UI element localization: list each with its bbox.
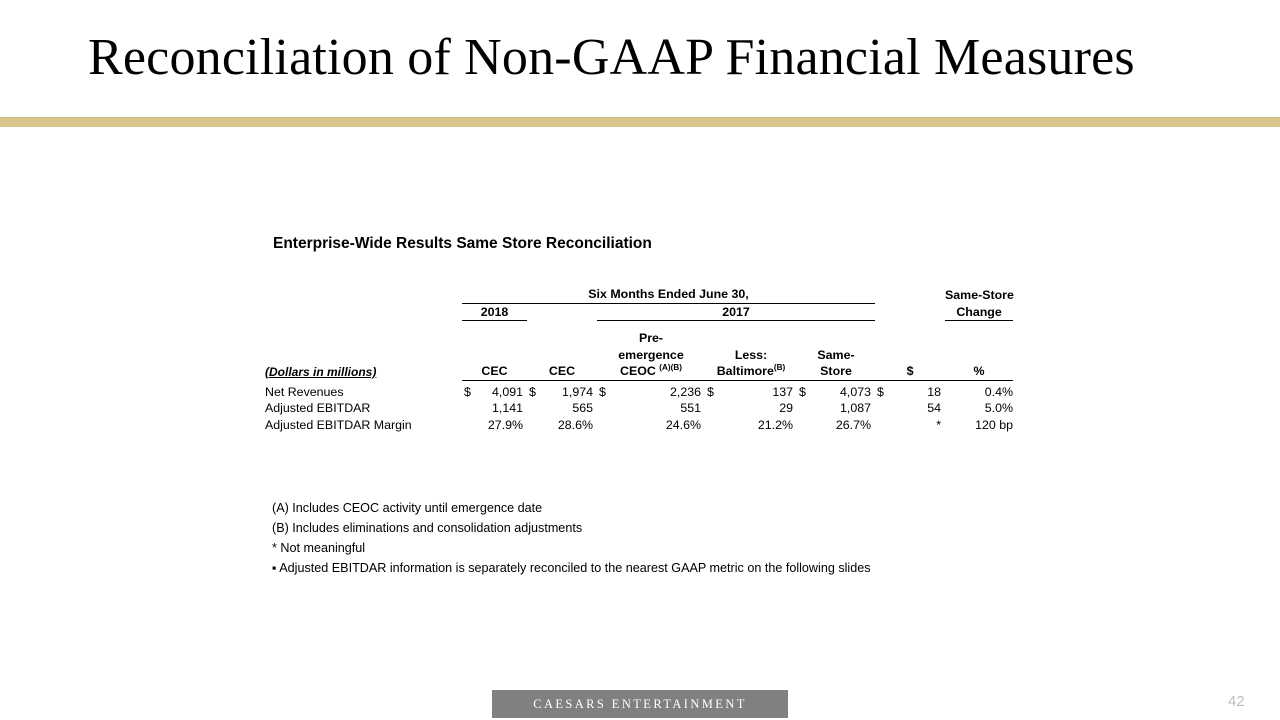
header-cec-2017: CEC [527,363,597,380]
header-ceoc-line3: CEOC [620,364,656,378]
cell-samestore: 1,087 [797,400,875,417]
spacer-cell [527,303,597,321]
spacer-cell [705,330,797,347]
spacer-cell [797,330,875,347]
table-col-header-line1: Pre- [265,330,1013,347]
header-ceoc-superscript: (A)(B) [659,363,682,372]
header-change-percent: % [945,363,1013,380]
cell-samestore: $ 4,073 [797,384,875,401]
table-col-header-line3: (Dollars in millions) CEC CEC CEOC (A)(B… [265,363,1013,380]
table-group-header-row: Six Months Ended June 30, Same-Store [265,286,1013,303]
footnote-asterisk: * Not meaningful [272,538,871,558]
footnote-bullet: ▪ Adjusted EBITDAR information is separa… [272,558,871,578]
spacer-cell [462,347,527,364]
table-row: Net Revenues $ 4,091 $ 1,974 $ 2,236 $ 1… [265,384,1013,401]
table-col-header-line2: emergence Less: Same- [265,347,1013,364]
cell-value: 54 [875,400,945,417]
currency-symbol: $ [529,384,536,401]
spacer-cell [875,330,945,347]
table-row: Adjusted EBITDAR Margin 27.9% 28.6% 24.6… [265,417,1013,434]
cell-change-dollar: 54 [875,400,945,417]
cell-cec-2017: 565 [527,400,597,417]
spacer-cell [462,330,527,347]
header-baltimore-superscript: (B) [774,363,785,372]
cell-value: 24.6% [597,417,705,434]
row-label: Adjusted EBITDAR [265,400,462,417]
cell-ceoc: 24.6% [597,417,705,434]
spacer-cell [945,347,1013,364]
cell-value: 565 [527,400,597,417]
footnotes-block: (A) Includes CEOC activity until emergen… [272,498,871,578]
cell-value: 21.2% [705,417,797,434]
footnote-b: (B) Includes eliminations and consolidat… [272,518,871,538]
header-change-dollar: $ [875,363,945,380]
spacer-cell [875,347,945,364]
cell-baltimore: 21.2% [705,417,797,434]
cell-change-percent: 5.0% [945,400,1013,417]
table-year-header-row: 2018 2017 Change [265,303,1013,321]
footnote-a: (A) Includes CEOC activity until emergen… [272,498,871,518]
currency-symbol: $ [707,384,714,401]
cell-change-percent: 120 bp [945,417,1013,434]
cell-cec-2018: 1,141 [462,400,527,417]
table-gap-row [265,321,1013,331]
header-samestore-line2: Store [797,363,875,380]
cell-value: 4,073 [797,384,875,401]
header-baltimore-line2: Baltimore [717,364,774,378]
cell-value: 18 [875,384,945,401]
header-ceoc-line1: Pre- [597,330,705,347]
currency-symbol: $ [599,384,606,401]
spacer-cell [265,321,1013,331]
cell-change-dollar: * [875,417,945,434]
cell-value: 26.7% [797,417,875,434]
currency-symbol: $ [464,384,471,401]
cell-ceoc: $ 2,236 [597,384,705,401]
cell-cec-2017: $ 1,974 [527,384,597,401]
spacer-cell [265,347,462,364]
logo-text: CAESARS ENTERTAINMENT [533,697,747,712]
row-label: Net Revenues [265,384,462,401]
cell-value: 137 [705,384,797,401]
spacer-cell [875,303,945,321]
cell-change-percent: 0.4% [945,384,1013,401]
cell-ceoc: 551 [597,400,705,417]
reconciliation-table-container: Six Months Ended June 30, Same-Store 201… [265,286,1025,433]
cell-cec-2018: $ 4,091 [462,384,527,401]
spacer-cell [875,286,945,303]
accent-bar [0,117,1280,127]
spacer-cell [527,347,597,364]
header-same-store-change-line2: Change [945,303,1013,321]
cell-samestore: 26.7% [797,417,875,434]
page-number: 42 [1228,693,1245,710]
cell-baltimore: 29 [705,400,797,417]
spacer-cell [265,286,462,303]
header-ceoc-line2: emergence [597,347,705,364]
header-six-months: Six Months Ended June 30, [462,286,875,303]
header-dollars-in-millions-text: (Dollars in millions) [265,365,376,379]
header-baltimore: Baltimore(B) [705,363,797,380]
cell-cec-2017: 28.6% [527,417,597,434]
cell-change-dollar: $ 18 [875,384,945,401]
spacer-cell [265,303,462,321]
caesars-entertainment-logo: CAESARS ENTERTAINMENT [492,690,788,718]
accent-bar-highlight [0,117,1280,118]
cell-value: * [875,417,945,434]
cell-value: 2,236 [597,384,705,401]
header-ceoc: CEOC (A)(B) [597,363,705,380]
header-baltimore-line1: Less: [705,347,797,364]
cell-baltimore: $ 137 [705,384,797,401]
section-heading: Enterprise-Wide Results Same Store Recon… [273,235,652,253]
spacer-cell [265,330,462,347]
currency-symbol: $ [799,384,806,401]
header-samestore-line1: Same- [797,347,875,364]
cell-value: 1,974 [527,384,597,401]
header-year-2018: 2018 [462,303,527,321]
cell-value: 28.6% [527,417,597,434]
page-title: Reconciliation of Non-GAAP Financial Mea… [88,28,1135,88]
cell-value: 551 [597,400,705,417]
header-cec-2018: CEC [462,363,527,380]
cell-value: 4,091 [462,384,527,401]
header-year-2017: 2017 [597,303,875,321]
spacer-cell [945,330,1013,347]
cell-value: 1,087 [797,400,875,417]
header-dollars-in-millions: (Dollars in millions) [265,363,462,380]
table-row: Adjusted EBITDAR 1,141 565 551 29 [265,400,1013,417]
cell-cec-2018: 27.9% [462,417,527,434]
cell-value: 27.9% [462,417,527,434]
cell-value: 29 [705,400,797,417]
row-label: Adjusted EBITDAR Margin [265,417,462,434]
header-same-store-change-line1: Same-Store [945,286,1013,303]
currency-symbol: $ [877,384,884,401]
cell-value: 1,141 [462,400,527,417]
spacer-cell [527,330,597,347]
reconciliation-table: Six Months Ended June 30, Same-Store 201… [265,286,1013,433]
